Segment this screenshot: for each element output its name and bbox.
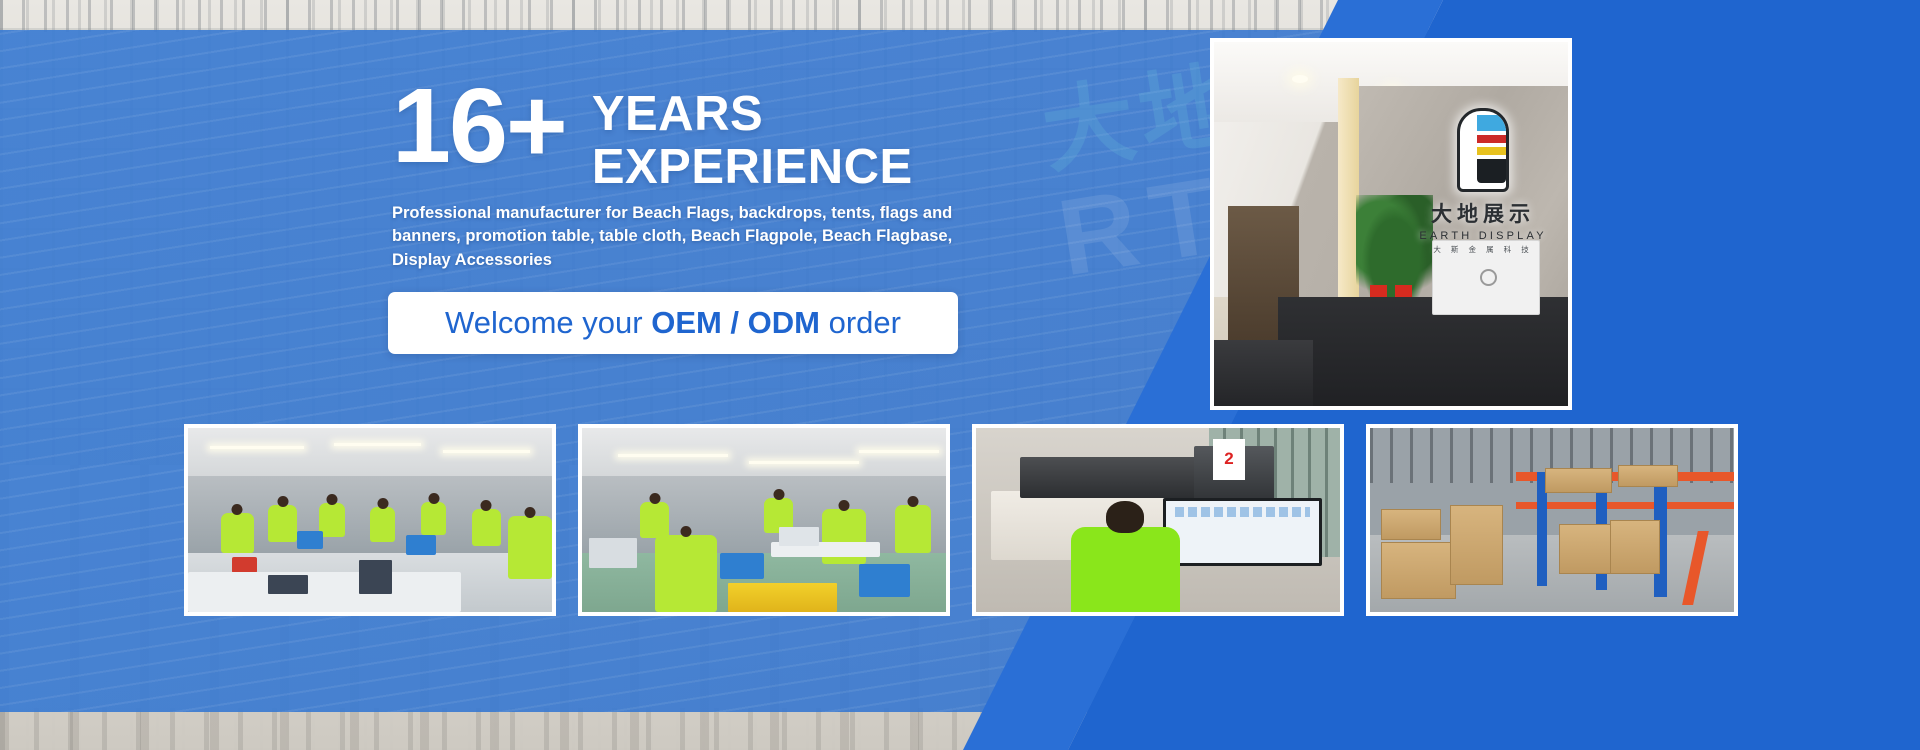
logo-band-black [1477, 159, 1506, 183]
chinese-flag-icon [1395, 285, 1412, 297]
worker-figure [655, 535, 717, 612]
reception-desk-side [1214, 340, 1313, 406]
photo-warehouse-storage[interactable] [1366, 424, 1738, 616]
sign-chinese-name: 大地展示 [1409, 198, 1558, 228]
light-tube-icon [443, 450, 530, 453]
years-count: 16+ [392, 78, 566, 176]
cutting-table [188, 572, 461, 612]
cta-emphasis: OEM / ODM [651, 305, 820, 340]
photo-sewing-workshop-overview[interactable] [184, 424, 556, 616]
reception-photo[interactable]: 大地展示 EARTH DISPLAY 大 斯 金 属 科 技 [1210, 38, 1572, 410]
company-logo-sign: 大地展示 EARTH DISPLAY 大 斯 金 属 科 技 [1409, 108, 1558, 255]
printer-carriage [1020, 457, 1202, 497]
ceiling-light-icon [1292, 75, 1308, 83]
yellow-fabric-pile [728, 583, 837, 612]
beach-flag-logo-icon [1457, 108, 1509, 192]
headline-block: 16+ YEARS EXPERIENCE Professional manufa… [392, 78, 1012, 272]
sign-chinese-subtitle: 大 斯 金 属 科 技 [1409, 244, 1558, 255]
sign-english-name: EARTH DISPLAY [1409, 230, 1558, 242]
carton-stack [1381, 509, 1441, 540]
worker-figure [221, 513, 254, 553]
worker-figure [319, 503, 344, 536]
wall-poster [1213, 439, 1246, 479]
worker-figure [370, 507, 395, 542]
carton-on-rack [1618, 465, 1678, 487]
operator-figure [1071, 527, 1180, 612]
worker-figure [895, 505, 931, 553]
rack-beam [1516, 502, 1734, 509]
photo-digital-printing-room[interactable] [972, 424, 1344, 616]
folded-fabric-stack [359, 560, 392, 593]
stool [232, 557, 257, 574]
oem-odm-button[interactable]: Welcome your OEM / ODM order [388, 292, 958, 354]
storage-bin [406, 535, 435, 555]
cta-suffix: order [820, 305, 901, 340]
carton-stack [1450, 505, 1503, 584]
worker-figure [268, 505, 297, 542]
light-tube-icon [749, 461, 858, 464]
product-description: Professional manufacturer for Beach Flag… [392, 202, 992, 272]
worker-figure [421, 502, 446, 535]
headline-line-experience: EXPERIENCE [592, 141, 913, 194]
workstation-monitor [1163, 498, 1322, 567]
logo-band-yellow [1477, 147, 1506, 155]
factory-photo-strip [0, 424, 1920, 616]
light-tube-icon [859, 450, 939, 453]
worker-figure [640, 502, 669, 539]
headline-line-years: YEARS [592, 88, 913, 141]
carton-stack [1559, 524, 1612, 574]
sewing-machine [779, 527, 819, 545]
light-tube-icon [618, 454, 727, 457]
photo-sewing-machine-line[interactable] [578, 424, 950, 616]
storage-crate [859, 564, 910, 597]
carton-stack [1381, 542, 1456, 599]
cta-prefix: Welcome your [445, 305, 651, 340]
logo-band-red [1477, 135, 1506, 143]
carton-on-rack [1545, 468, 1613, 492]
logo-band-blue [1477, 115, 1506, 131]
company-profile-banner: 大地展示 RTH 16+ YEARS EXPERIENCE Profession… [0, 0, 1920, 750]
worker-figure [508, 516, 552, 579]
storage-bin [297, 531, 322, 549]
light-tube-icon [210, 446, 305, 449]
worker-figure [472, 509, 501, 546]
carton-stack [1610, 520, 1659, 574]
light-tube-icon [334, 443, 421, 446]
background-top-strip [0, 0, 1920, 32]
chinese-flag-icon [1370, 285, 1387, 297]
folded-fabric-stack [268, 575, 308, 593]
oem-odm-label: Welcome your OEM / ODM order [445, 305, 901, 341]
storage-crate [720, 553, 764, 579]
sewing-machine [589, 538, 636, 567]
background-bottom-strip [0, 708, 1920, 750]
